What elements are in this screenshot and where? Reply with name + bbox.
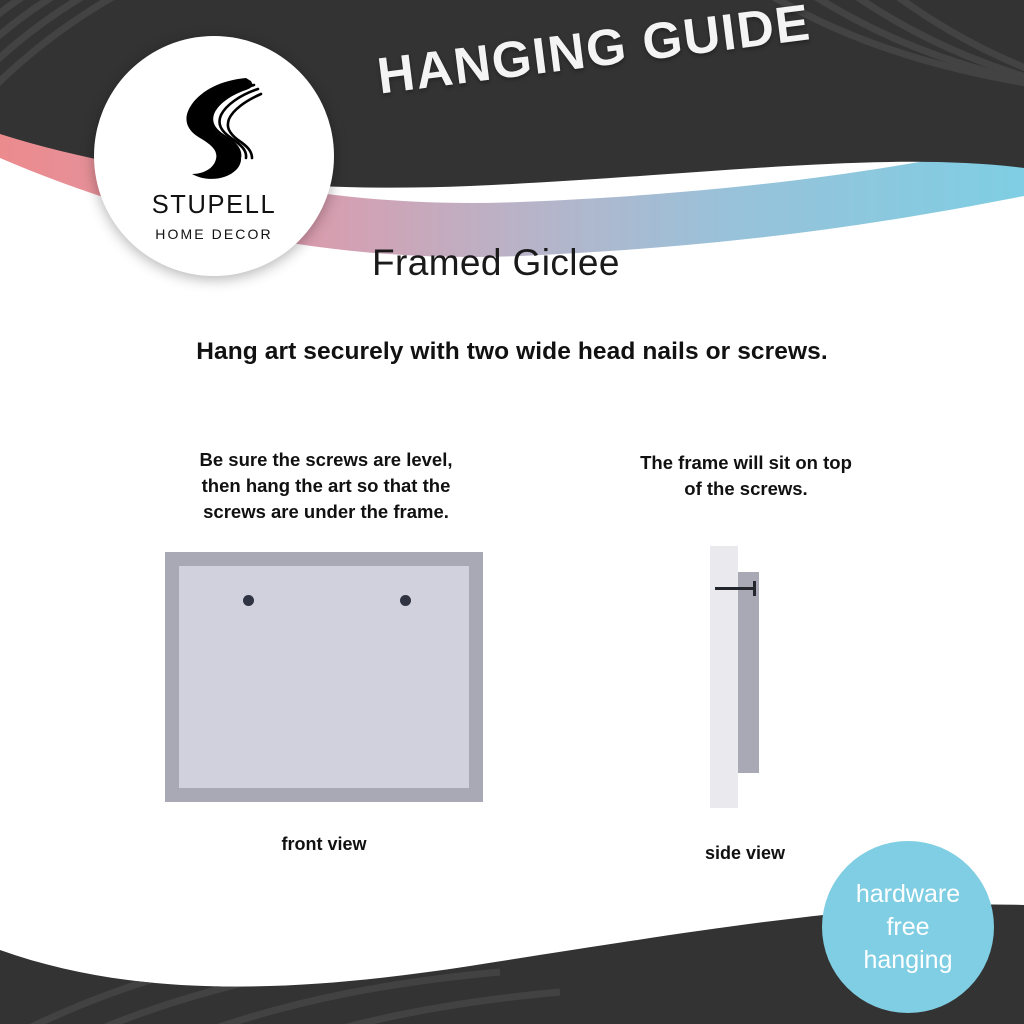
hardware-badge-line-1: hardware bbox=[856, 878, 960, 911]
hardware-badge-line-2: free bbox=[886, 911, 929, 944]
front-caption-line-3: screws are under the frame. bbox=[170, 499, 482, 525]
product-title: Framed Giclee bbox=[372, 242, 620, 284]
screw-head-icon bbox=[753, 581, 756, 596]
front-view-label: front view bbox=[165, 834, 483, 855]
side-view-frame bbox=[738, 572, 759, 773]
front-caption-line-1: Be sure the screws are level, bbox=[170, 447, 482, 473]
front-view-frame-diagram bbox=[165, 552, 483, 802]
front-view-caption: Be sure the screws are level, then hang … bbox=[170, 447, 482, 525]
side-caption-line-1: The frame will sit on top bbox=[600, 450, 892, 476]
side-view-caption: The frame will sit on top of the screws. bbox=[600, 450, 892, 502]
hanging-guide-poster: STUPELL HOME DECOR HANGING GUIDE Framed … bbox=[0, 0, 1024, 1024]
stupell-swoosh-logo-icon bbox=[162, 68, 266, 184]
hardware-free-hanging-badge: hardware free hanging bbox=[822, 841, 994, 1013]
screw-shaft-icon bbox=[715, 587, 755, 590]
screw-dot-right-icon bbox=[400, 595, 411, 606]
lead-instruction: Hang art securely with two wide head nai… bbox=[0, 338, 1024, 366]
front-view-artwork-panel bbox=[179, 566, 469, 788]
hardware-badge-line-3: hanging bbox=[864, 944, 953, 977]
side-view-wall bbox=[710, 546, 738, 808]
side-view-label: side view bbox=[660, 843, 830, 864]
front-caption-line-2: then hang the art so that the bbox=[170, 473, 482, 499]
logo-brand-name: STUPELL bbox=[152, 193, 277, 219]
stupell-logo-badge: STUPELL HOME DECOR bbox=[94, 36, 334, 276]
logo-subtitle: HOME DECOR bbox=[155, 227, 272, 241]
side-caption-line-2: of the screws. bbox=[600, 476, 892, 502]
screw-dot-left-icon bbox=[243, 595, 254, 606]
side-view-frame-diagram bbox=[700, 546, 770, 808]
